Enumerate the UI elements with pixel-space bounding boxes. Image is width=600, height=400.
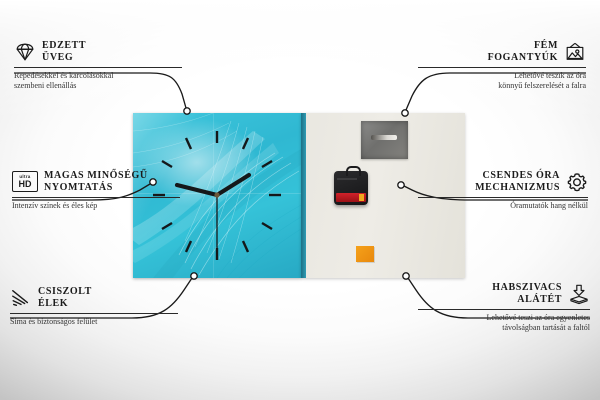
title-line-1: FÉM bbox=[534, 40, 558, 51]
diamond-icon bbox=[14, 41, 36, 63]
ultra-hd-icon: ultra HD bbox=[12, 171, 38, 192]
feature-metal-handles: FÉM FOGANTYÚK Lehetővé teszik az óra kön… bbox=[418, 40, 586, 91]
clock-mechanism bbox=[334, 171, 368, 205]
feature-foam-pad: HABSZIVACS ALÁTÉT Lehetővé teszi az óra … bbox=[418, 282, 590, 333]
foam-pad-icon bbox=[568, 283, 590, 305]
feature-description: Repedésekkel és karcolásokkal szembeni e… bbox=[14, 71, 182, 91]
feature-title: MAGAS MINŐSÉGŰ NYOMTATÁS bbox=[44, 170, 148, 194]
feature-title: CSISZOLT ÉLEK bbox=[38, 286, 92, 310]
feature-description: Lehetővé teszi az óra egyenletes távolsá… bbox=[418, 313, 590, 333]
feature-header: CSENDES ÓRA MECHANIZMUS bbox=[418, 170, 588, 194]
divider bbox=[14, 67, 182, 68]
title-line-2: ÜVEG bbox=[42, 52, 73, 63]
feature-header: EDZETT ÜVEG bbox=[14, 40, 182, 64]
divider bbox=[418, 67, 586, 68]
feature-description: Lehetővé teszik az óra könnyű felszerelé… bbox=[418, 71, 586, 91]
feature-tempered-glass: EDZETT ÜVEG Repedésekkel és karcolásokka… bbox=[14, 40, 182, 91]
divider bbox=[418, 197, 588, 198]
feature-description: Sima és biztonságos felület bbox=[10, 317, 178, 327]
hanger-slot bbox=[371, 135, 397, 140]
feature-title: FÉM FOGANTYÚK bbox=[488, 40, 558, 64]
desc-line-2: szembeni ellenállás bbox=[14, 81, 76, 90]
title-line-1: EDZETT bbox=[42, 40, 86, 51]
divider bbox=[12, 197, 180, 198]
gear-icon bbox=[566, 171, 588, 193]
feature-description: Intenzív színek és éles kép bbox=[12, 201, 180, 211]
feature-title: EDZETT ÜVEG bbox=[42, 40, 86, 64]
title-line-1: CSISZOLT bbox=[38, 286, 92, 297]
feature-quiet-mechanism: CSENDES ÓRA MECHANIZMUS Óramutatók hang … bbox=[418, 170, 588, 211]
feature-polished-edges: CSISZOLT ÉLEK Sima és biztonságos felüle… bbox=[10, 286, 178, 327]
metal-hanger-plate bbox=[361, 121, 408, 159]
feature-header: FÉM FOGANTYÚK bbox=[418, 40, 586, 64]
feature-title: HABSZIVACS ALÁTÉT bbox=[492, 282, 562, 306]
title-line-2: ALÁTÉT bbox=[517, 294, 562, 305]
desc-line-2: távolságban tartását a faltól bbox=[502, 323, 590, 332]
foam-spacer-pad bbox=[356, 246, 374, 262]
mechanism-detail bbox=[337, 178, 357, 180]
desc-line-1: Lehetővé teszi az óra egyenletes bbox=[487, 313, 591, 322]
title-line-2: MECHANIZMUS bbox=[475, 182, 560, 193]
title-line-2: FOGANTYÚK bbox=[488, 52, 558, 63]
infographic-canvas: EDZETT ÜVEG Repedésekkel és karcolásokka… bbox=[0, 0, 600, 400]
mechanism-loop bbox=[346, 166, 361, 176]
desc-line-1: Óramutatók hang nélkül bbox=[510, 201, 588, 210]
desc-line-1: Lehetővé teszik az óra bbox=[514, 71, 586, 80]
feature-header: CSISZOLT ÉLEK bbox=[10, 286, 178, 310]
feature-header: HABSZIVACS ALÁTÉT bbox=[418, 282, 590, 306]
hd-label: HD bbox=[19, 180, 32, 189]
title-line-1: HABSZIVACS bbox=[492, 282, 562, 293]
desc-line-1: Intenzív színek és éles kép bbox=[12, 201, 97, 210]
title-line-1: MAGAS MINŐSÉGŰ bbox=[44, 170, 148, 181]
feature-header: ultra HD MAGAS MINŐSÉGŰ NYOMTATÁS bbox=[12, 170, 180, 194]
picture-hanger-icon bbox=[564, 41, 586, 63]
desc-line-1: Sima és biztonságos felület bbox=[10, 317, 97, 326]
divider bbox=[10, 313, 178, 314]
feature-high-quality-print: ultra HD MAGAS MINŐSÉGŰ NYOMTATÁS Intenz… bbox=[12, 170, 180, 211]
divider bbox=[418, 309, 590, 310]
desc-line-2: könnyű felszerelését a falra bbox=[498, 81, 586, 90]
product-image bbox=[133, 113, 465, 278]
polished-edges-icon bbox=[10, 287, 32, 309]
feature-title: CSENDES ÓRA MECHANIZMUS bbox=[475, 170, 560, 194]
title-line-1: CSENDES ÓRA bbox=[483, 170, 560, 181]
desc-line-1: Repedésekkel és karcolásokkal bbox=[14, 71, 114, 80]
title-line-2: ÉLEK bbox=[38, 298, 68, 309]
title-line-2: NYOMTATÁS bbox=[44, 182, 113, 193]
battery bbox=[336, 193, 366, 202]
feature-description: Óramutatók hang nélkül bbox=[418, 201, 588, 211]
